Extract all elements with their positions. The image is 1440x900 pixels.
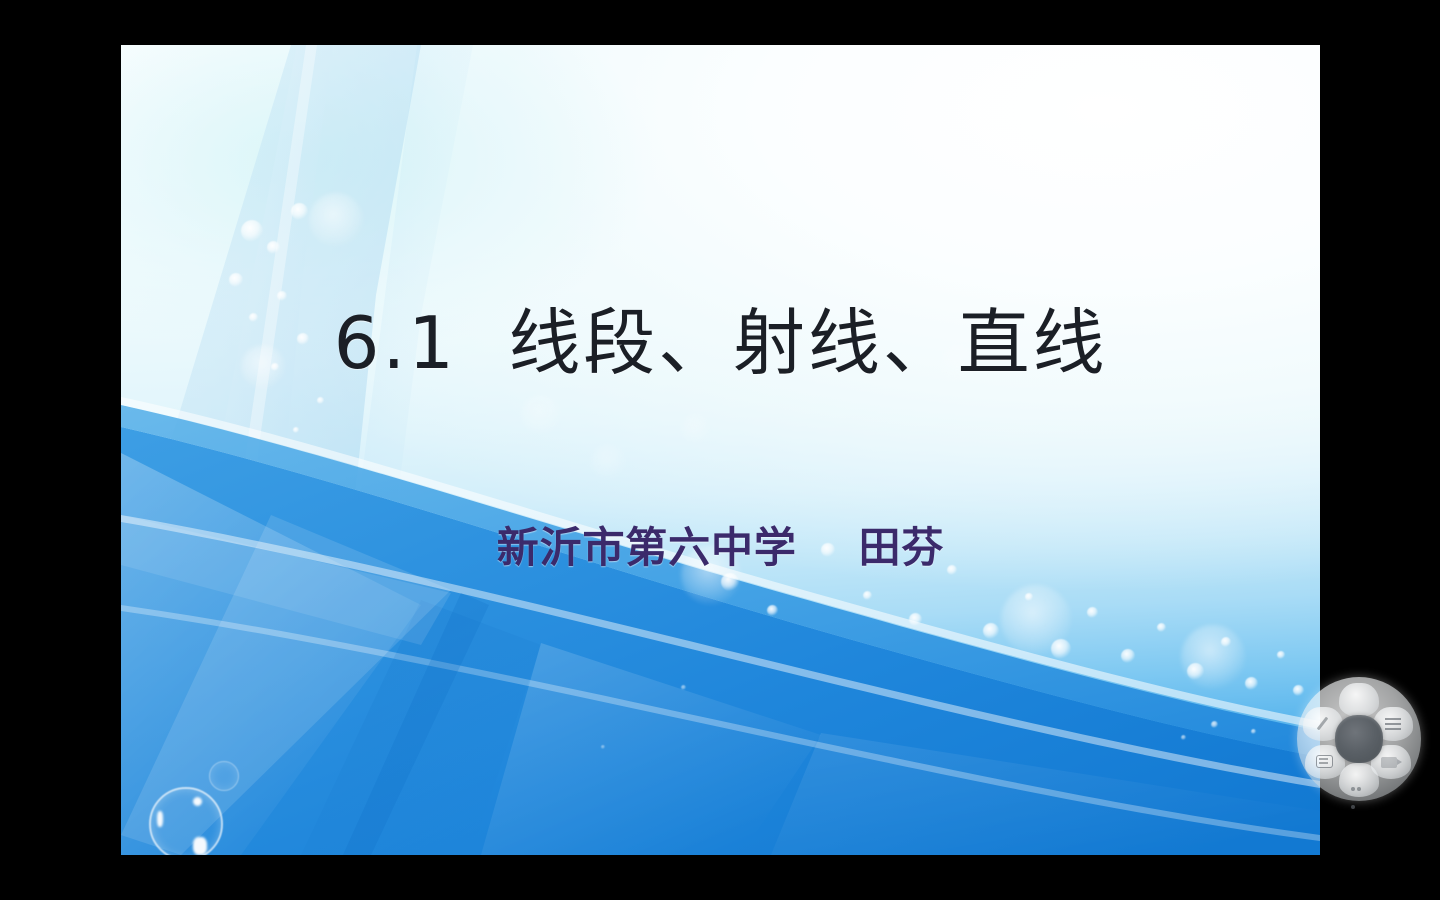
decorative-bubble xyxy=(209,761,239,791)
presentation-slide: 6.1 线段、射线、直线 新沂市第六中学 田芬 xyxy=(121,45,1320,855)
dots-icon xyxy=(1351,778,1367,782)
decorative-bubble xyxy=(149,787,223,855)
screen-icon xyxy=(1316,755,1333,768)
decorative-bokeh-layer xyxy=(121,45,1320,855)
floating-assistive-widget[interactable] xyxy=(1297,677,1421,801)
widget-button-bottom[interactable] xyxy=(1339,763,1379,797)
bars-icon xyxy=(1385,718,1401,730)
screen-root: 6.1 线段、射线、直线 新沂市第六中学 田芬 xyxy=(0,0,1440,900)
widget-button-top[interactable] xyxy=(1339,683,1379,717)
slide-title: 6.1 线段、射线、直线 xyxy=(121,303,1320,384)
camera-icon xyxy=(1381,757,1397,768)
slide-subtitle: 新沂市第六中学 田芬 xyxy=(121,523,1320,573)
pencil-icon xyxy=(1317,717,1329,731)
widget-center-button[interactable] xyxy=(1335,715,1383,763)
